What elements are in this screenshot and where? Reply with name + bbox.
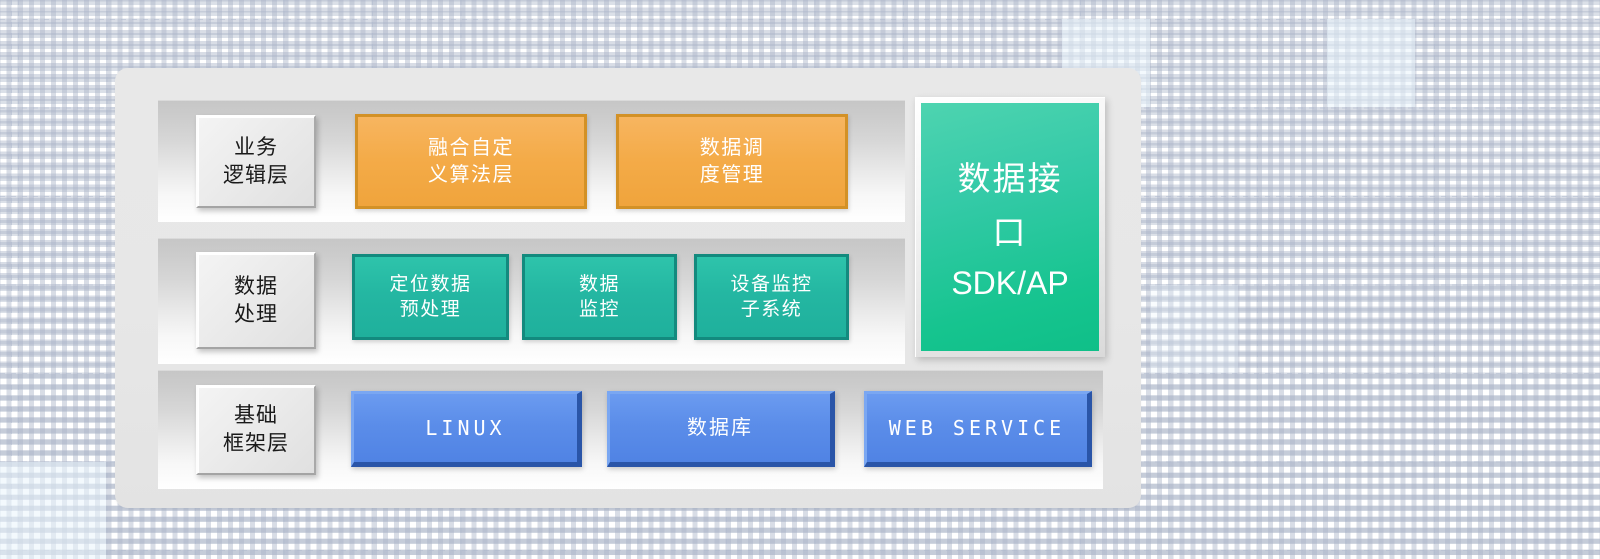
api-panel-subtitle: SDK/AP [951,265,1068,302]
module-label-line: 设备监控 [730,272,812,297]
layer-label-base-framework[interactable]: 基础 框架层 [196,385,316,475]
module-linux[interactable]: LINUX [351,391,582,467]
layer-label-business[interactable]: 业务 逻辑层 [196,115,316,208]
module-web-service[interactable]: WEB SERVICE [864,391,1092,467]
module-label-line: 融合自定 [428,135,514,162]
module-data-monitoring[interactable]: 数据 监控 [522,254,677,340]
module-label-line: WEB SERVICE [889,415,1065,442]
module-device-monitoring-subsystem[interactable]: 设备监控 子系统 [694,254,849,340]
module-fusion-algorithm[interactable]: 融合自定 义算法层 [355,114,587,209]
api-panel-title: 数据接口 [954,152,1066,259]
grid-tint-cell [1327,19,1415,107]
module-label-line: 监控 [579,297,620,322]
layer-label-data-processing[interactable]: 数据 处理 [196,252,316,349]
layer-label-line: 逻辑层 [223,162,289,190]
layer-label-line: 数据 [234,273,278,301]
module-label-line: 义算法层 [428,162,514,189]
layer-label-line: 基础 [234,402,278,430]
grid-tint-cell [0,462,106,559]
module-data-interface[interactable]: 数据接口 SDK/AP [921,103,1099,351]
grid-tint-cell [1150,285,1238,373]
module-label-line: 数据 [579,272,620,297]
module-database[interactable]: 数据库 [607,391,835,467]
api-panel-frame: 数据接口 SDK/AP [915,97,1105,357]
layer-label-line: 业务 [234,134,278,162]
module-data-scheduling[interactable]: 数据调 度管理 [616,114,848,209]
module-label-line: 数据库 [687,415,753,442]
module-label-line: 度管理 [700,162,765,189]
module-location-preprocessing[interactable]: 定位数据 预处理 [352,254,509,340]
module-label-line: 定位数据 [389,272,471,297]
module-label-line: 子系统 [741,297,803,322]
module-label-line: LINUX [425,415,505,442]
layer-label-line: 框架层 [223,430,289,458]
layer-label-line: 处理 [234,301,278,329]
module-label-line: 数据调 [700,135,765,162]
module-label-line: 预处理 [400,297,462,322]
